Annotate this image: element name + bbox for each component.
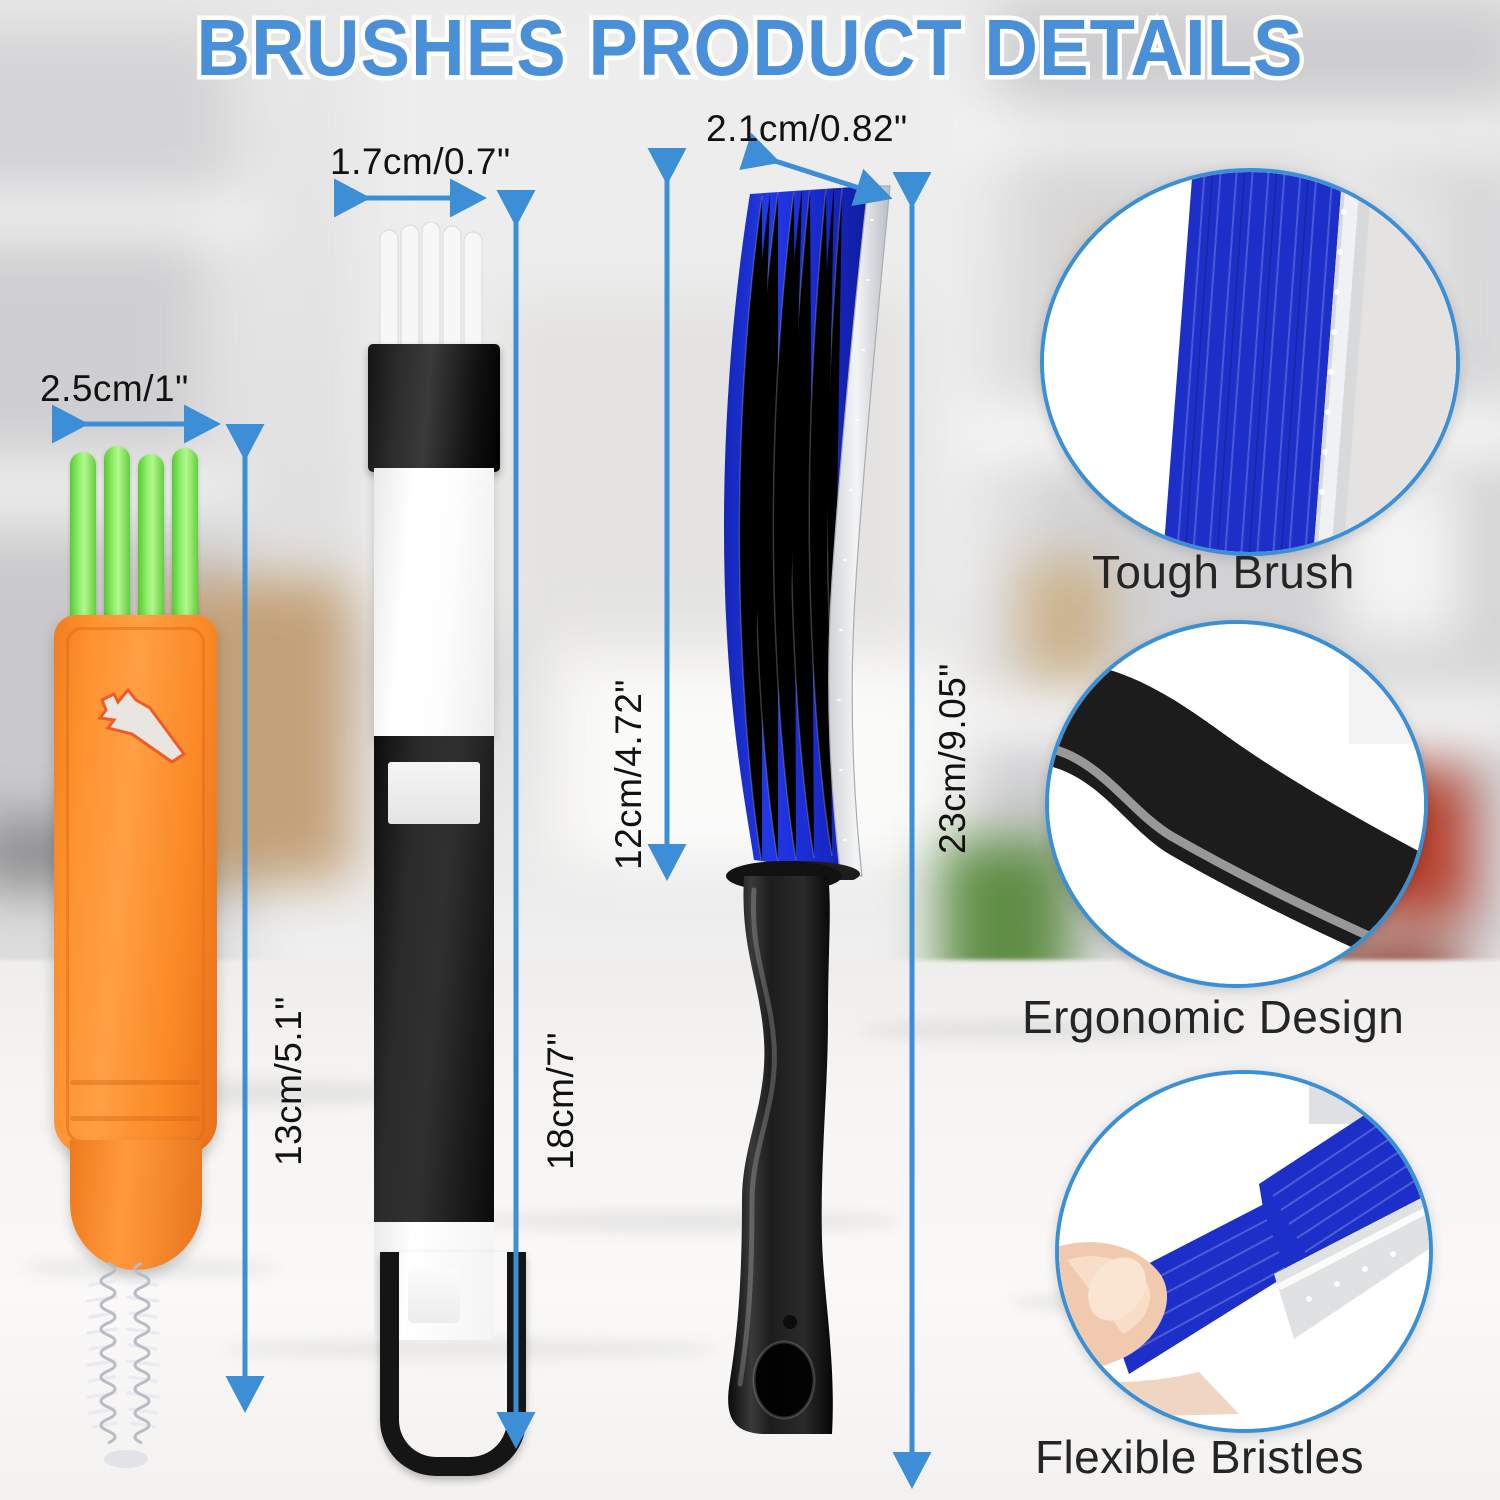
handle-notch <box>388 762 480 824</box>
dimension-label-grout-total-length: 23cm/9.05" <box>932 663 974 854</box>
carrot-ridge <box>70 1080 200 1085</box>
dimension-label-grout-head-length: 12cm/4.72" <box>608 679 650 870</box>
feature-label-flexible-bristles: Flexible Bristles <box>1035 1430 1364 1484</box>
feature-image-flexible-bristles <box>1055 1070 1433 1433</box>
feature-label-tough-brush: Tough Brush <box>1092 545 1355 599</box>
wire-spiral-brush <box>84 1255 189 1470</box>
product-carrot-window-groove-brush <box>40 440 255 1460</box>
carrot-handle-taper <box>70 1140 202 1270</box>
carrot-ridge <box>70 1116 200 1121</box>
black-ergonomic-handle <box>720 860 850 1440</box>
dimension-label-carrot-length: 13cm/5.1" <box>268 996 310 1166</box>
carrot-leaf <box>70 452 96 624</box>
page-title: BRUSHES PRODUCT DETAILS <box>53 2 1448 94</box>
feature-image-ergonomic-design <box>1045 620 1428 988</box>
carrot-leaf <box>104 446 130 626</box>
product-crevice-dust-brush <box>358 222 510 1457</box>
white-handle-upper <box>374 468 494 738</box>
carrot-leaf <box>138 454 164 626</box>
black-ferrule <box>368 344 500 472</box>
blue-bristle-head <box>690 160 940 880</box>
carrot-leaf <box>172 448 198 626</box>
white-bristles <box>378 222 490 352</box>
carrot-shape-cutout <box>84 678 196 768</box>
dimension-label-crevice-width: 1.7cm/0.7" <box>330 141 511 183</box>
feature-image-tough-brush <box>1040 168 1460 556</box>
infographic-canvas: BRUSHES PRODUCT DETAILS <box>0 0 1500 1500</box>
dimension-label-grout-head-width: 2.1cm/0.82" <box>706 108 908 150</box>
dimension-label-carrot-width: 2.5cm/1" <box>40 368 189 410</box>
loop-tab <box>408 1268 460 1323</box>
feature-label-ergonomic-design: Ergonomic Design <box>1022 990 1404 1044</box>
dimension-label-crevice-length: 18cm/7" <box>540 1032 582 1170</box>
product-grout-gap-brush <box>690 160 940 1480</box>
